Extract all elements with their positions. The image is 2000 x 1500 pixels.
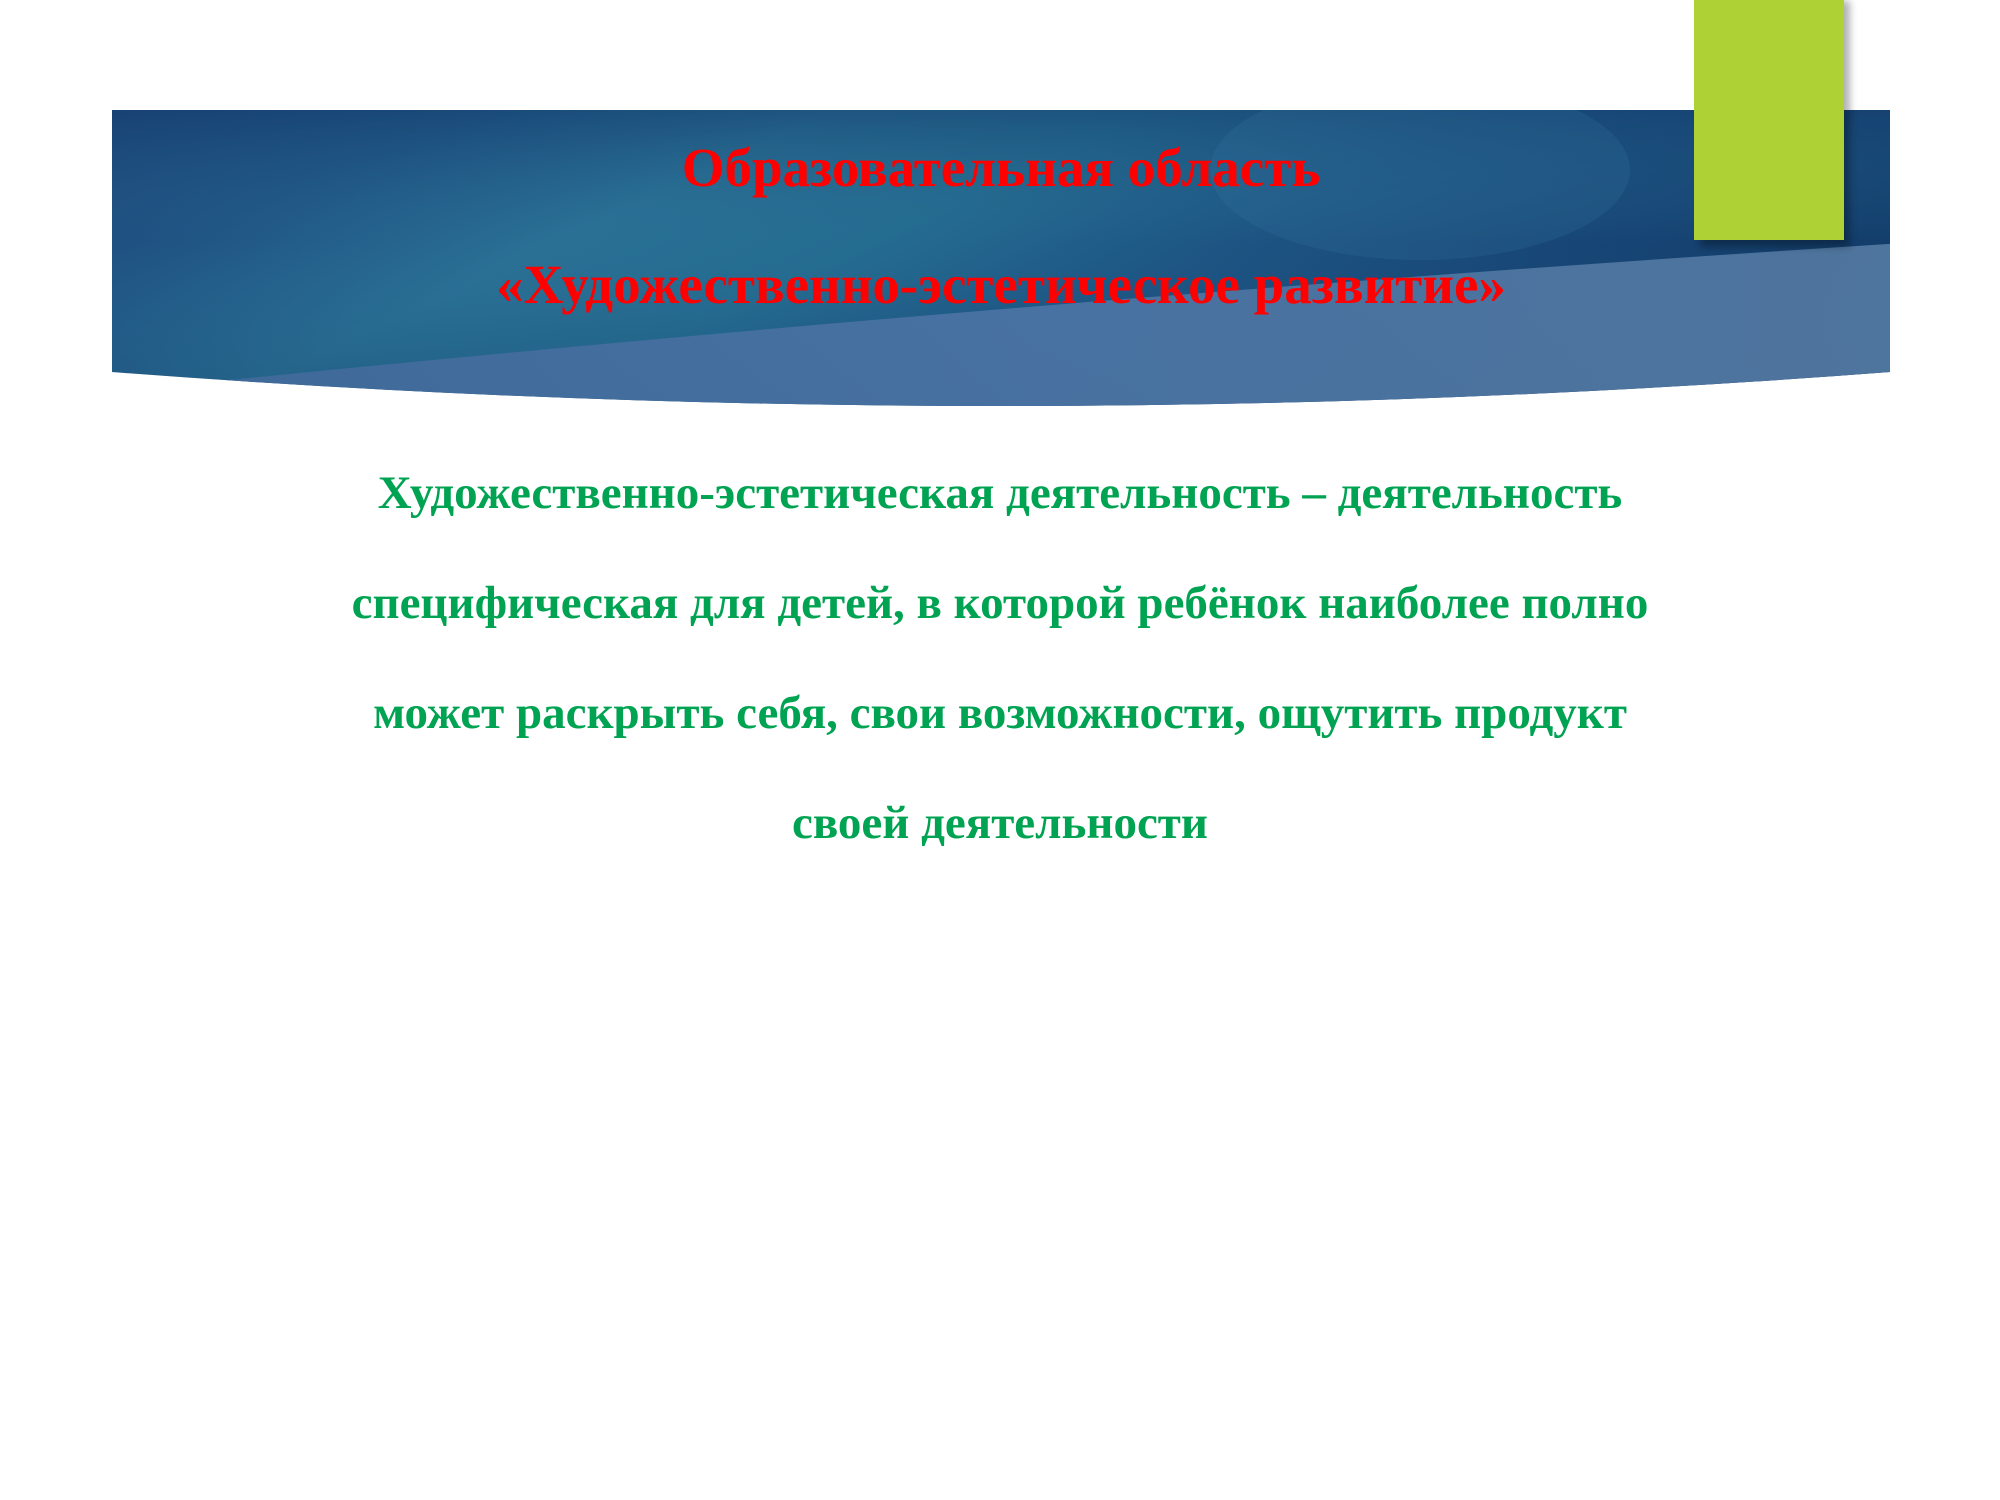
body-line-3: может раскрыть себя, свои возможности, о… xyxy=(100,690,1900,737)
title-line-1: Образовательная область xyxy=(112,140,1890,195)
body-line-2: специфическая для детей, в которой ребён… xyxy=(100,580,1900,627)
body-line-1: Художественно-эстетическая деятельность … xyxy=(100,470,1900,517)
slide-title: Образовательная область «Художественно-э… xyxy=(112,140,1890,312)
slide-body-text: Художественно-эстетическая деятельность … xyxy=(100,470,1900,847)
title-line-2: «Художественно-эстетическое развитие» xyxy=(112,257,1890,312)
presentation-slide: Образовательная область «Художественно-э… xyxy=(0,0,2000,1500)
body-line-4: своей деятельности xyxy=(100,800,1900,847)
